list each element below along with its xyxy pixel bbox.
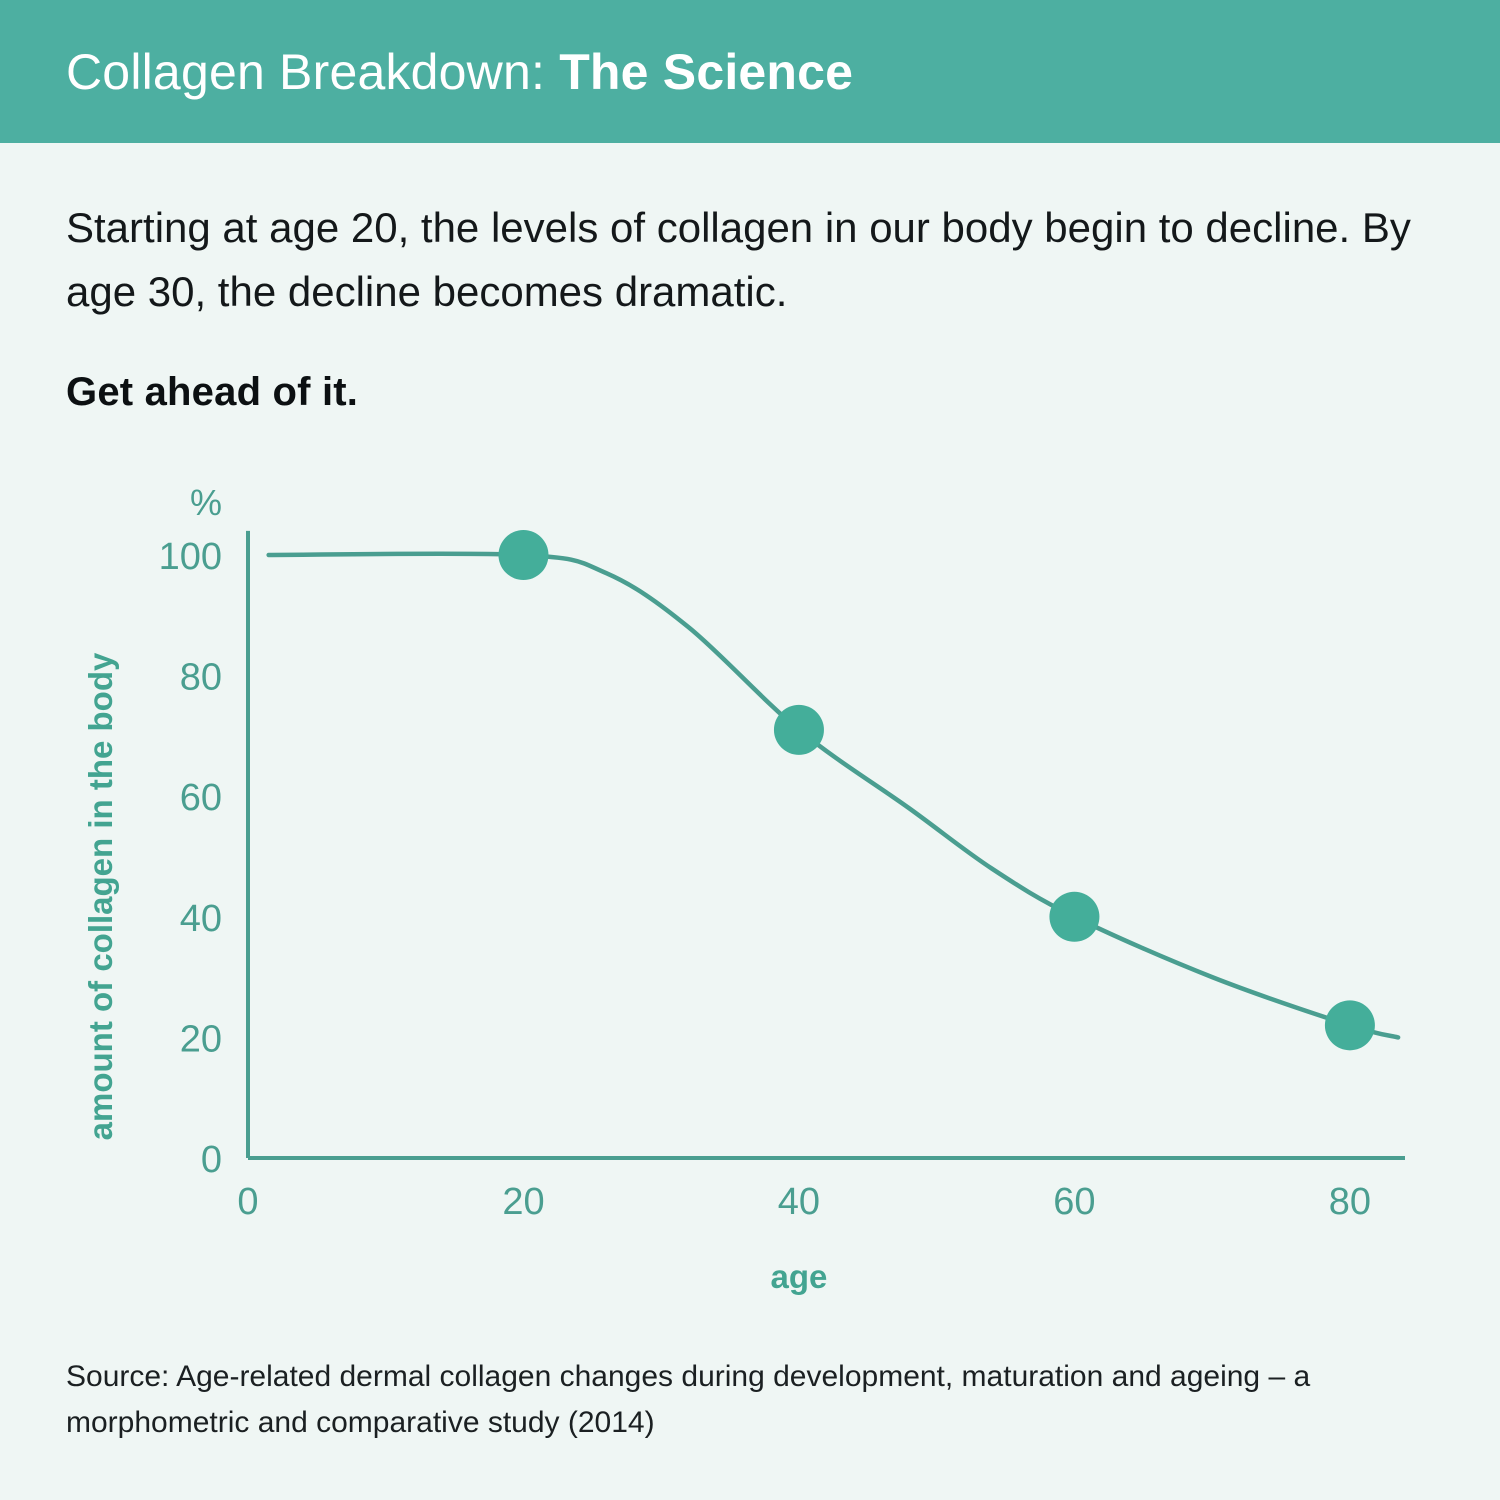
data-point-marker [1325,1000,1375,1050]
y-tick-label: 80 [180,657,222,699]
data-point-marker [498,530,548,580]
chart-axes [248,531,1405,1158]
chart-canvas: 020406080100% 020406080 ageamount of col… [0,460,1500,1320]
chart-data-markers [498,530,1374,1050]
y-axis-ticks: 020406080100% [159,482,222,1181]
y-axis-title: amount of collagen in the body [82,652,119,1140]
call-to-action-line: Get ahead of it. [66,370,358,415]
intro-paragraph: Starting at age 20, the levels of collag… [66,196,1446,324]
x-axis-title: age [771,1258,828,1295]
y-tick-label: 100 [159,536,222,578]
y-tick-label: 40 [180,898,222,940]
x-tick-label: 0 [237,1181,258,1223]
chart-line-series [269,554,1398,1038]
y-axis-unit: % [190,482,222,523]
page-title-emphasis: The Science [559,44,853,100]
source-citation: Source: Age-related dermal collagen chan… [66,1354,1436,1445]
page-title-regular: Collagen Breakdown: [66,44,559,100]
data-point-marker [774,705,824,755]
y-tick-label: 20 [180,1018,222,1060]
y-tick-label: 0 [201,1139,222,1181]
data-point-marker [1049,892,1099,942]
collagen-curve [269,554,1398,1038]
x-tick-label: 40 [778,1181,820,1223]
infographic-page: Collagen Breakdown: The Science Starting… [0,0,1500,1500]
x-tick-label: 20 [502,1181,544,1223]
header-bar: Collagen Breakdown: The Science [0,0,1500,143]
y-tick-label: 60 [180,777,222,819]
x-axis-ticks: 020406080 [237,1181,1371,1223]
chart-axis-titles: ageamount of collagen in the body [82,652,827,1295]
page-title: Collagen Breakdown: The Science [66,43,853,101]
x-tick-label: 60 [1053,1181,1095,1223]
collagen-decline-chart: 020406080100% 020406080 ageamount of col… [0,460,1500,1320]
x-tick-label: 80 [1329,1181,1371,1223]
